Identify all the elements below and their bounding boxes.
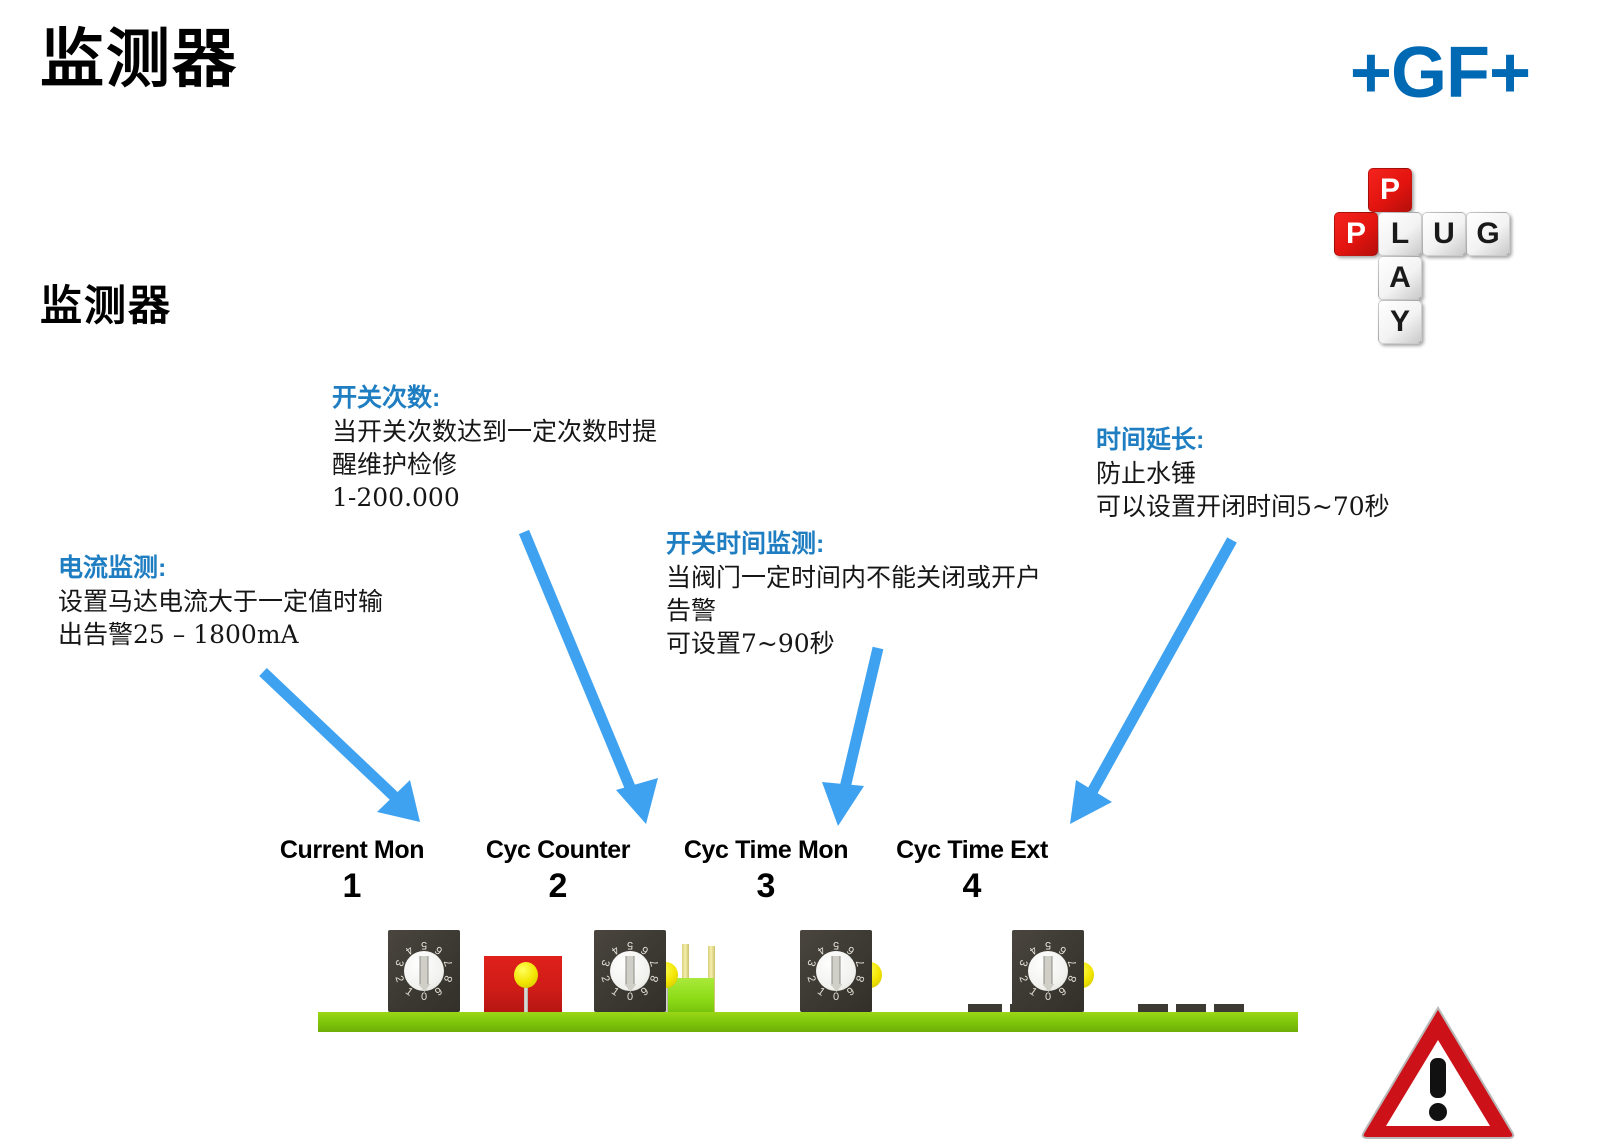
- arrow-cycle-time-extension-head: [1070, 780, 1112, 824]
- dial-digit: 0: [1045, 991, 1051, 1003]
- rotary-switch-1[interactable]: 0123456789: [388, 930, 460, 1012]
- dial-pointer-icon: [626, 956, 635, 986]
- arrow-current-monitoring-line: [263, 672, 398, 800]
- dial-pointer-icon: [420, 956, 429, 986]
- dial-digit: 9: [845, 985, 857, 998]
- dial-digit: 5: [627, 939, 633, 951]
- slide-canvas: 监测器 监测器 +GF+ P P L U G A Y 电流监测: 设置马达电流大…: [0, 0, 1608, 1144]
- dial-digit: 3: [1017, 958, 1030, 968]
- callout-header-cycle-time-extension: 时间延长:: [1096, 424, 1390, 457]
- dial-digit: 6: [1057, 943, 1069, 956]
- dial-pointer-icon: [1044, 956, 1053, 986]
- dial-digit: 1: [403, 985, 415, 998]
- callout-cycle-counter: 开关次数: 当开关次数达到一定次数时提 醒维护检修 1-200.000: [332, 382, 657, 514]
- device-name-2: Cyc Counter: [458, 836, 658, 865]
- dial-digit: 9: [639, 985, 651, 998]
- device-index-2: 2: [458, 867, 658, 906]
- rotary-switch-3[interactable]: 0123456789: [800, 930, 872, 1012]
- dial-digit: 3: [805, 958, 818, 968]
- device-index-4: 4: [872, 867, 1072, 906]
- dial-digit: 5: [833, 939, 839, 951]
- callout-range-value: 1-200.000: [332, 481, 657, 514]
- device-label-3: Cyc Time Mon 3: [666, 836, 866, 906]
- exclamation-dot: [1429, 1103, 1447, 1121]
- cube-p-horizontal: P: [1334, 212, 1378, 256]
- rotary-switch-4[interactable]: 0123456789: [1012, 930, 1084, 1012]
- dial-digit: 2: [599, 974, 612, 984]
- cube-g: G: [1466, 212, 1510, 256]
- dial-digit: 5: [421, 939, 427, 951]
- cube-l: L: [1378, 212, 1422, 256]
- dial-digit: 1: [1027, 985, 1039, 998]
- cube-p-vertical: P: [1368, 168, 1412, 212]
- cube-y: Y: [1378, 300, 1422, 344]
- callout-line-1: 防止水锤: [1096, 457, 1390, 490]
- dial-digit: 8: [854, 974, 867, 984]
- callout-cycle-time-monitoring: 开关时间监测: 当阀门一定时间内不能关闭或开户 告警 可设置7~90秒: [666, 528, 1041, 660]
- arrow-cycle-time-monitoring-head: [822, 782, 864, 826]
- device-name-3: Cyc Time Mon: [666, 836, 866, 865]
- led-indicator-1: [514, 962, 538, 990]
- device-label-2: Cyc Counter 2: [458, 836, 658, 906]
- dial-digit: 2: [393, 974, 406, 984]
- arrow-cycle-time-extension-line: [1092, 540, 1232, 792]
- dial-digit: 6: [639, 943, 651, 956]
- device-label-1: Current Mon 1: [252, 836, 452, 906]
- dial-digit: 6: [845, 943, 857, 956]
- dial-digit: 1: [609, 985, 621, 998]
- callout-header-current-monitoring: 电流监测:: [58, 552, 383, 585]
- dial-digit: 0: [833, 991, 839, 1003]
- dial-digit: 9: [1057, 985, 1069, 998]
- device-name-1: Current Mon: [252, 836, 452, 865]
- callout-current-monitoring: 电流监测: 设置马达电流大于一定值时输 出告警25 – 1800mA: [58, 552, 383, 651]
- dial-digit: 7: [648, 958, 661, 968]
- dial-digit: 6: [433, 943, 445, 956]
- exclamation-bar: [1430, 1058, 1446, 1098]
- device-name-4: Cyc Time Ext: [872, 836, 1072, 865]
- dial-digit: 0: [627, 991, 633, 1003]
- callout-line-2: 告警: [666, 594, 1041, 627]
- dial-digit: 0: [421, 991, 427, 1003]
- callout-line-2: 出告警25 – 1800mA: [58, 618, 383, 651]
- dial-digit: 8: [1066, 974, 1079, 984]
- arrow-cycle-counter-line: [524, 532, 632, 792]
- dial-pointer-icon: [832, 956, 841, 986]
- arrow-current-monitoring-head: [377, 780, 420, 822]
- plug-and-play-logo: P P L U G A Y: [1316, 166, 1516, 336]
- callout-line-1: 当阀门一定时间内不能关闭或开户: [666, 561, 1041, 594]
- callout-header-cycle-time-monitoring: 开关时间监测:: [666, 528, 1041, 561]
- section-title: 监测器: [40, 272, 172, 333]
- rotary-switch-2[interactable]: 0123456789: [594, 930, 666, 1012]
- callout-line-1: 当开关次数达到一定次数时提: [332, 415, 657, 448]
- page-title: 监测器: [40, 26, 238, 93]
- dial-digit: 7: [1066, 958, 1079, 968]
- cube-u: U: [1422, 212, 1466, 256]
- led-bulb: [514, 962, 538, 988]
- callout-line-1: 设置马达电流大于一定值时输: [58, 585, 383, 618]
- dial-digit: 3: [599, 958, 612, 968]
- device-label-4: Cyc Time Ext 4: [872, 836, 1072, 906]
- callout-line-2: 可以设置开闭时间5~70秒: [1096, 490, 1390, 523]
- dial-digit: 7: [442, 958, 455, 968]
- dial-digit: 5: [1045, 939, 1051, 951]
- dial-digit: 9: [433, 985, 445, 998]
- dial-digit: 1: [815, 985, 827, 998]
- callout-line-3: 可设置7~90秒: [666, 627, 1041, 660]
- callout-header-cycle-counter: 开关次数:: [332, 382, 657, 415]
- cube-a: A: [1378, 256, 1422, 300]
- device-index-1: 1: [252, 867, 452, 906]
- callout-line-2: 醒维护检修: [332, 448, 657, 481]
- dial-digit: 7: [854, 958, 867, 968]
- dial-digit: 2: [1017, 974, 1030, 984]
- device-index-3: 3: [666, 867, 866, 906]
- callout-cycle-time-extension: 时间延长: 防止水锤 可以设置开闭时间5~70秒: [1096, 424, 1390, 523]
- dial-digit: 8: [648, 974, 661, 984]
- arrow-cycle-time-monitoring-line: [844, 648, 878, 792]
- dial-digit: 8: [442, 974, 455, 984]
- warning-triangle-icon: [1358, 1000, 1518, 1140]
- gf-logo: +GF+: [1350, 32, 1530, 114]
- device-board: Current Mon 1 Cyc Counter 2 Cyc Time Mon…: [318, 836, 1298, 1036]
- pcb-strip: [318, 1012, 1298, 1032]
- dial-digit: 2: [805, 974, 818, 984]
- arrow-cycle-counter-head: [616, 778, 658, 824]
- dial-digit: 3: [393, 958, 406, 968]
